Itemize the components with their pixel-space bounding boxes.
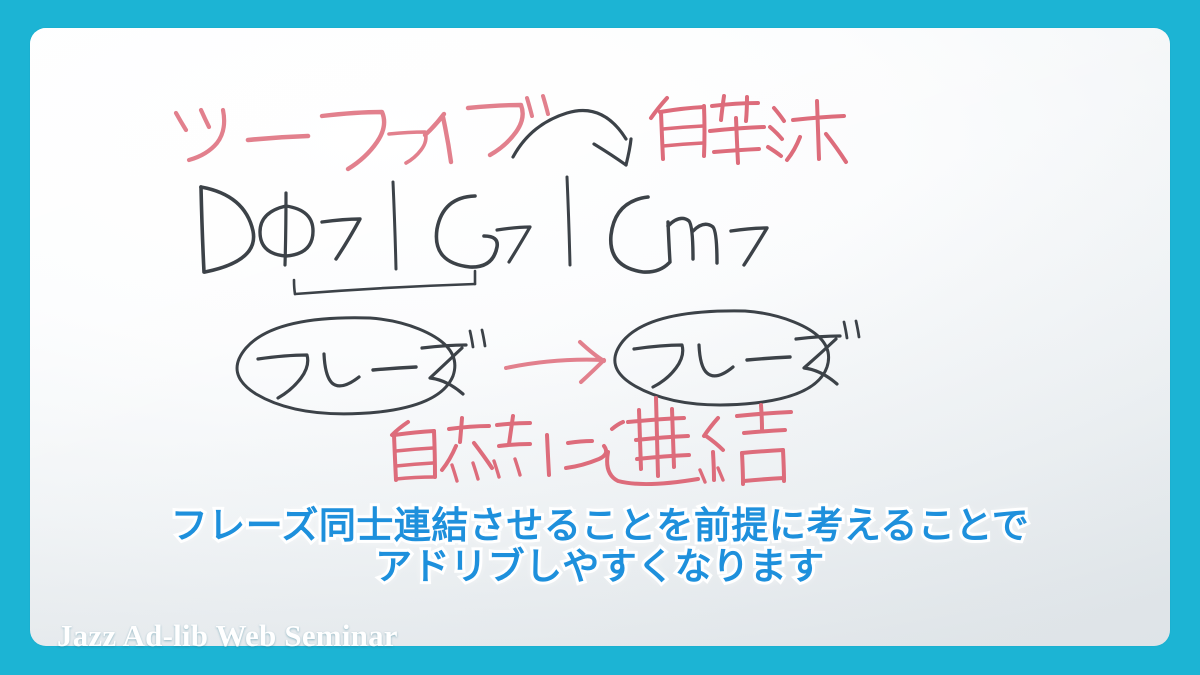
video-frame: .blk { fill:none; stroke:#3c4248; stroke… [0,0,1200,675]
channel-watermark: Jazz Ad-lib Web Seminar [57,618,398,654]
whiteboard-sheen [30,28,1170,646]
whiteboard-surface [30,28,1170,646]
